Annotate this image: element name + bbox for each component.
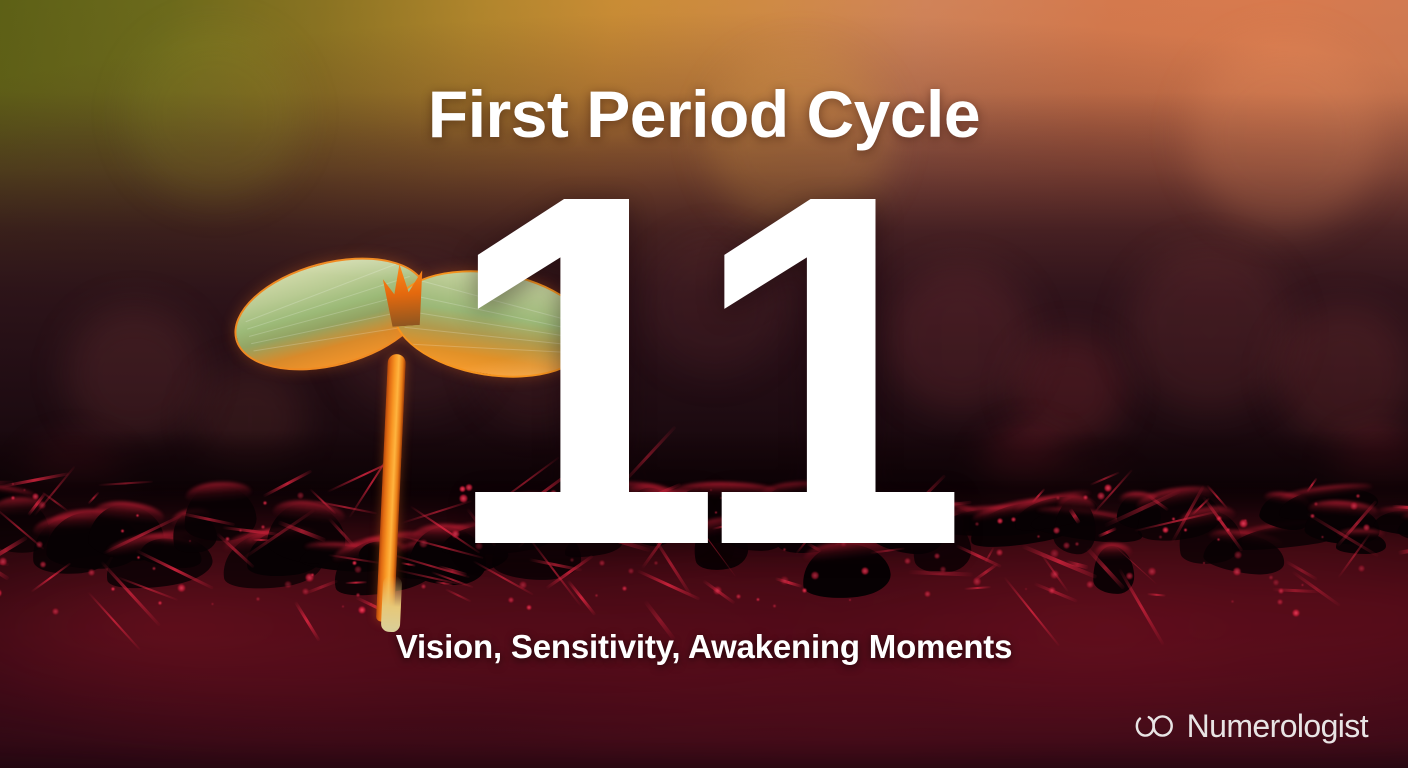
stem-base (381, 576, 403, 633)
soil-spark (1048, 587, 1056, 595)
soil-spark (1273, 579, 1280, 586)
infinity-icon (1134, 713, 1178, 739)
soil-spark (88, 569, 95, 576)
page-subtitle: Vision, Sensitivity, Awakening Moments (0, 628, 1408, 666)
soil-spark (0, 557, 7, 565)
soil-spark (111, 587, 115, 591)
soil-spark (1050, 570, 1059, 579)
soil-spark (158, 601, 161, 604)
soil-spark (1233, 567, 1242, 576)
brand-name: Numerologist (1187, 710, 1368, 742)
soil-spark (137, 556, 139, 558)
promo-card: 11 First Period Cycle Vision, Sensitivit… (0, 0, 1408, 768)
page-title: First Period Cycle (0, 76, 1408, 152)
soil-spark (1269, 575, 1274, 580)
brand-logo[interactable]: Numerologist (1134, 710, 1368, 742)
cycle-number: 11 (0, 185, 1408, 555)
soil-spark (1126, 572, 1134, 580)
soil-spark (152, 567, 155, 570)
soil-spark (1278, 588, 1284, 594)
soil-spark (1086, 581, 1093, 588)
soil-spark (1277, 599, 1283, 605)
soil-spark (1292, 609, 1300, 617)
soil-spark (1148, 567, 1156, 575)
soil-spark (1301, 584, 1304, 587)
